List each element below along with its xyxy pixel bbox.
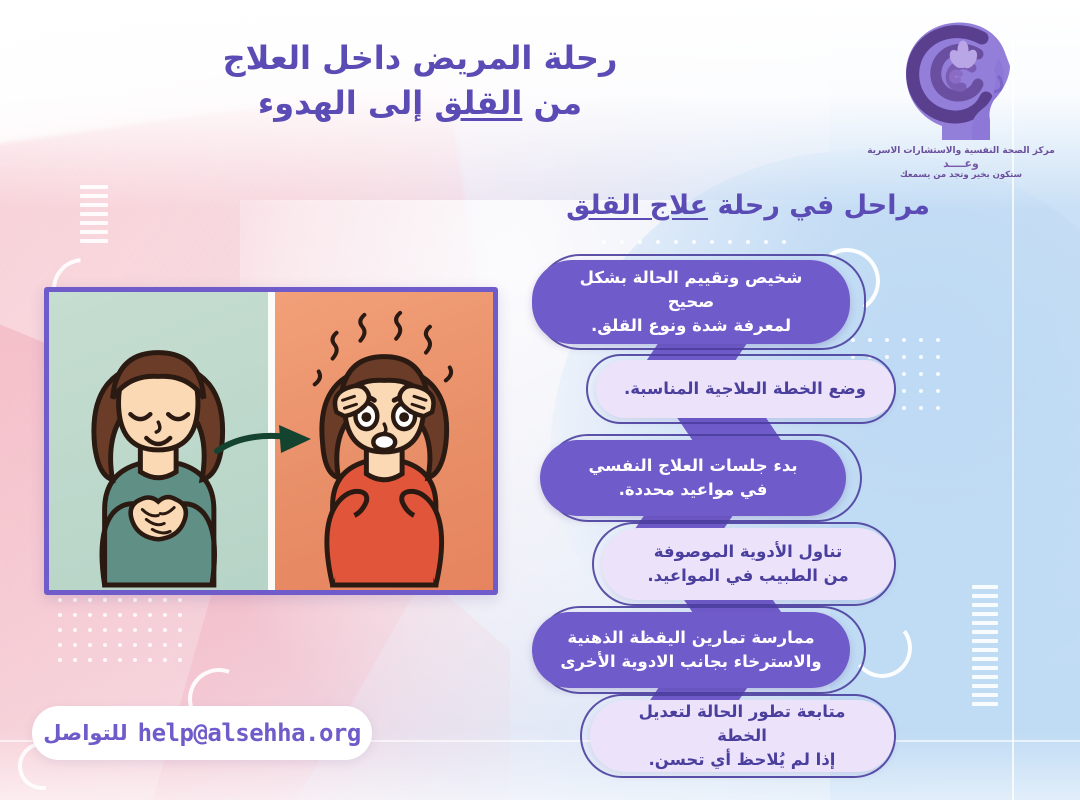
illustration-calm-woman: [49, 292, 268, 590]
step-item-5[interactable]: ممارسة تمارين اليقظة الذهنيةوالاسترخاء ب…: [526, 610, 856, 690]
brand-logo: مركز الصحة النفسية والاستشارات الاسرية و…: [854, 14, 1068, 181]
decorative-stripes-top-left: [80, 185, 108, 243]
illustration-anxious-woman: [275, 292, 494, 590]
brain-spiral-head-leaf-icon: [886, 14, 1036, 144]
infographic-canvas: رحلة المريض داخل العلاج من القلق إلى اله…: [0, 0, 1080, 800]
step-item-1[interactable]: شخيص وتقييم الحالة بشكل صحيحلمعرفة شدة و…: [526, 258, 856, 346]
step-item-2[interactable]: وضع الخطة العلاجية المناسبة.: [594, 358, 896, 420]
decorative-dot-row: [602, 240, 786, 244]
contact-email[interactable]: help@alsehha.org: [138, 719, 361, 747]
illustration-divider: [268, 292, 275, 590]
logo-brand-word: وعــــد: [854, 157, 1068, 170]
step-item-3[interactable]: بدء جلسات العلاج النفسيفي مواعيد محددة.: [534, 438, 852, 518]
steps-heading-keyword: علاج القلق: [566, 190, 708, 221]
step-label-1: شخيص وتقييم الحالة بشكل صحيحلمعرفة شدة و…: [532, 260, 850, 344]
step-label-6: متابعة تطور الحالة لتعديل الخطةإذا لم يُ…: [590, 700, 894, 772]
contact-pill[interactable]: help@alsehha.org للتواصل: [32, 706, 372, 760]
logo-tagline: ستكون بخير وتجد من يسمعك: [854, 170, 1068, 181]
steps-section-heading: مراحل في رحلة علاج القلق: [566, 190, 930, 221]
step-item-6[interactable]: متابعة تطور الحالة لتعديل الخطةإذا لم يُ…: [588, 698, 896, 774]
decorative-dot-grid-left: [58, 598, 182, 662]
step-label-5: ممارسة تمارين اليقظة الذهنيةوالاسترخاء ب…: [532, 612, 850, 688]
step-label-2: وضع الخطة العلاجية المناسبة.: [596, 360, 894, 418]
calm-woman-drawing: [49, 292, 268, 590]
step-label-4: تناول الأدوية الموصوفةمن الطبيب في الموا…: [602, 528, 894, 600]
page-title: رحلة المريض داخل العلاج من القلق إلى اله…: [150, 36, 690, 127]
decorative-stripes-bottom-right: [972, 585, 998, 706]
logo-center-name: مركز الصحة النفسية والاستشارات الاسرية: [854, 146, 1068, 157]
step-item-4[interactable]: تناول الأدوية الموصوفةمن الطبيب في الموا…: [600, 526, 896, 602]
before-after-illustration: [44, 287, 498, 595]
anxious-woman-drawing: [275, 292, 494, 590]
step-label-3: بدء جلسات العلاج النفسيفي مواعيد محددة.: [540, 440, 846, 516]
page-title-line-1: رحلة المريض داخل العلاج: [150, 36, 690, 81]
page-title-line-2-prefix: من: [522, 84, 582, 122]
contact-label: للتواصل: [43, 721, 127, 745]
page-title-line-2-suffix: إلى الهدوء: [258, 84, 434, 122]
page-title-line-2: من القلق إلى الهدوء: [150, 81, 690, 126]
steps-flow: شخيص وتقييم الحالة بشكل صحيحلمعرفة شدة و…: [526, 258, 956, 778]
steps-heading-prefix: مراحل في رحلة: [708, 190, 930, 221]
page-title-keyword: القلق: [434, 84, 522, 122]
